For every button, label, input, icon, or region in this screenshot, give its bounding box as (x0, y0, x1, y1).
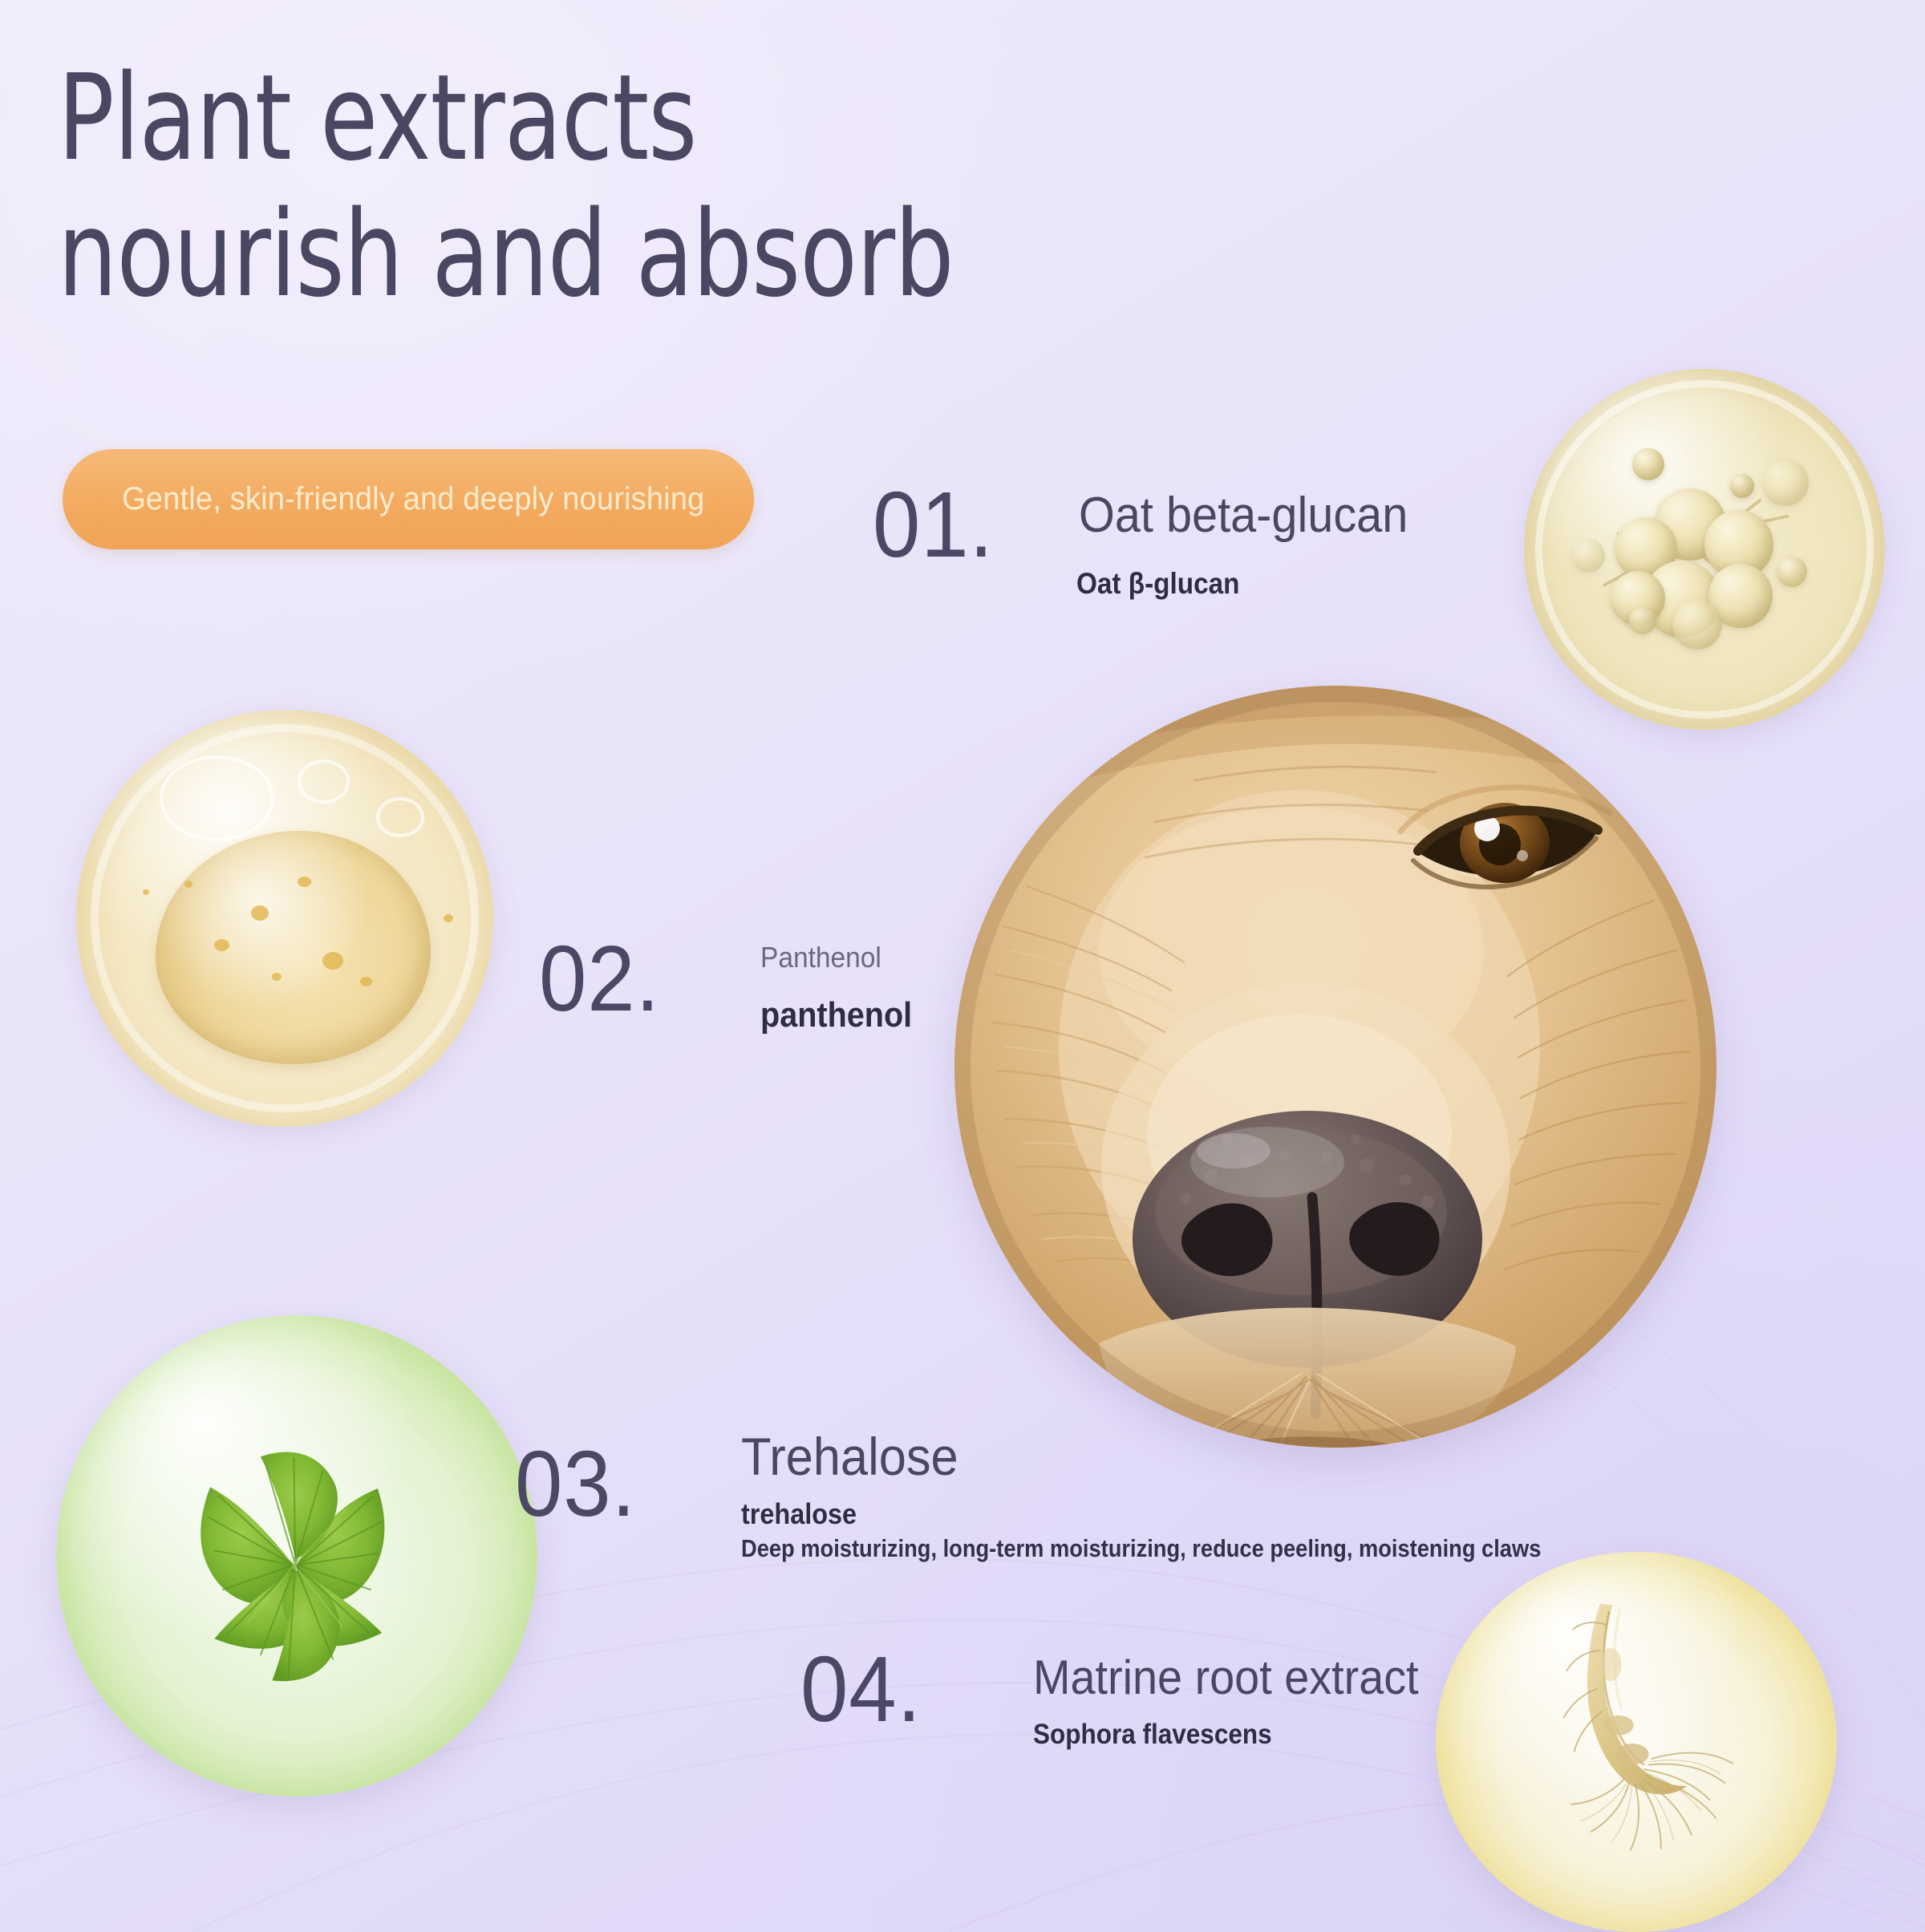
ingredient-latin-03: trehalose (741, 1497, 857, 1531)
poster-canvas: Plant extracts nourish and absorb Gentle… (0, 0, 1925, 1932)
page-title: Plant extracts nourish and absorb (58, 50, 1159, 322)
ingredient-name-01: Oat beta-glucan (1079, 489, 1408, 541)
ingredient-name-04: Matrine root extract (1033, 1652, 1419, 1703)
dog-face-photo (954, 686, 1716, 1448)
ingredient-number-01: 01. (873, 478, 994, 571)
tagline-banner: Gentle, skin-friendly and deeply nourish… (63, 449, 754, 549)
tagline-text: Gentle, skin-friendly and deeply nourish… (63, 479, 704, 520)
ingredient-latin-02: panthenol (760, 994, 912, 1037)
matrine-root-bubble (1436, 1552, 1837, 1932)
panthenol-gel-dish (76, 710, 493, 1127)
oat-beta-glucan-petri-dish (1524, 369, 1885, 730)
ingredient-name-02: Panthenol (760, 940, 881, 974)
ingredient-number-03: 03. (515, 1437, 636, 1530)
trehalose-algae-bubble (56, 1315, 537, 1796)
ingredient-latin-01: Oat β-glucan (1076, 566, 1239, 601)
ingredient-description-03: Deep moisturizing, long-term moisturizin… (741, 1533, 1541, 1565)
ingredient-number-04: 04. (800, 1642, 922, 1736)
ingredient-name-03: Trehalose (741, 1429, 958, 1484)
ingredient-number-02: 02. (539, 932, 660, 1025)
ingredient-latin-04: Sophora flavescens (1033, 1718, 1272, 1752)
